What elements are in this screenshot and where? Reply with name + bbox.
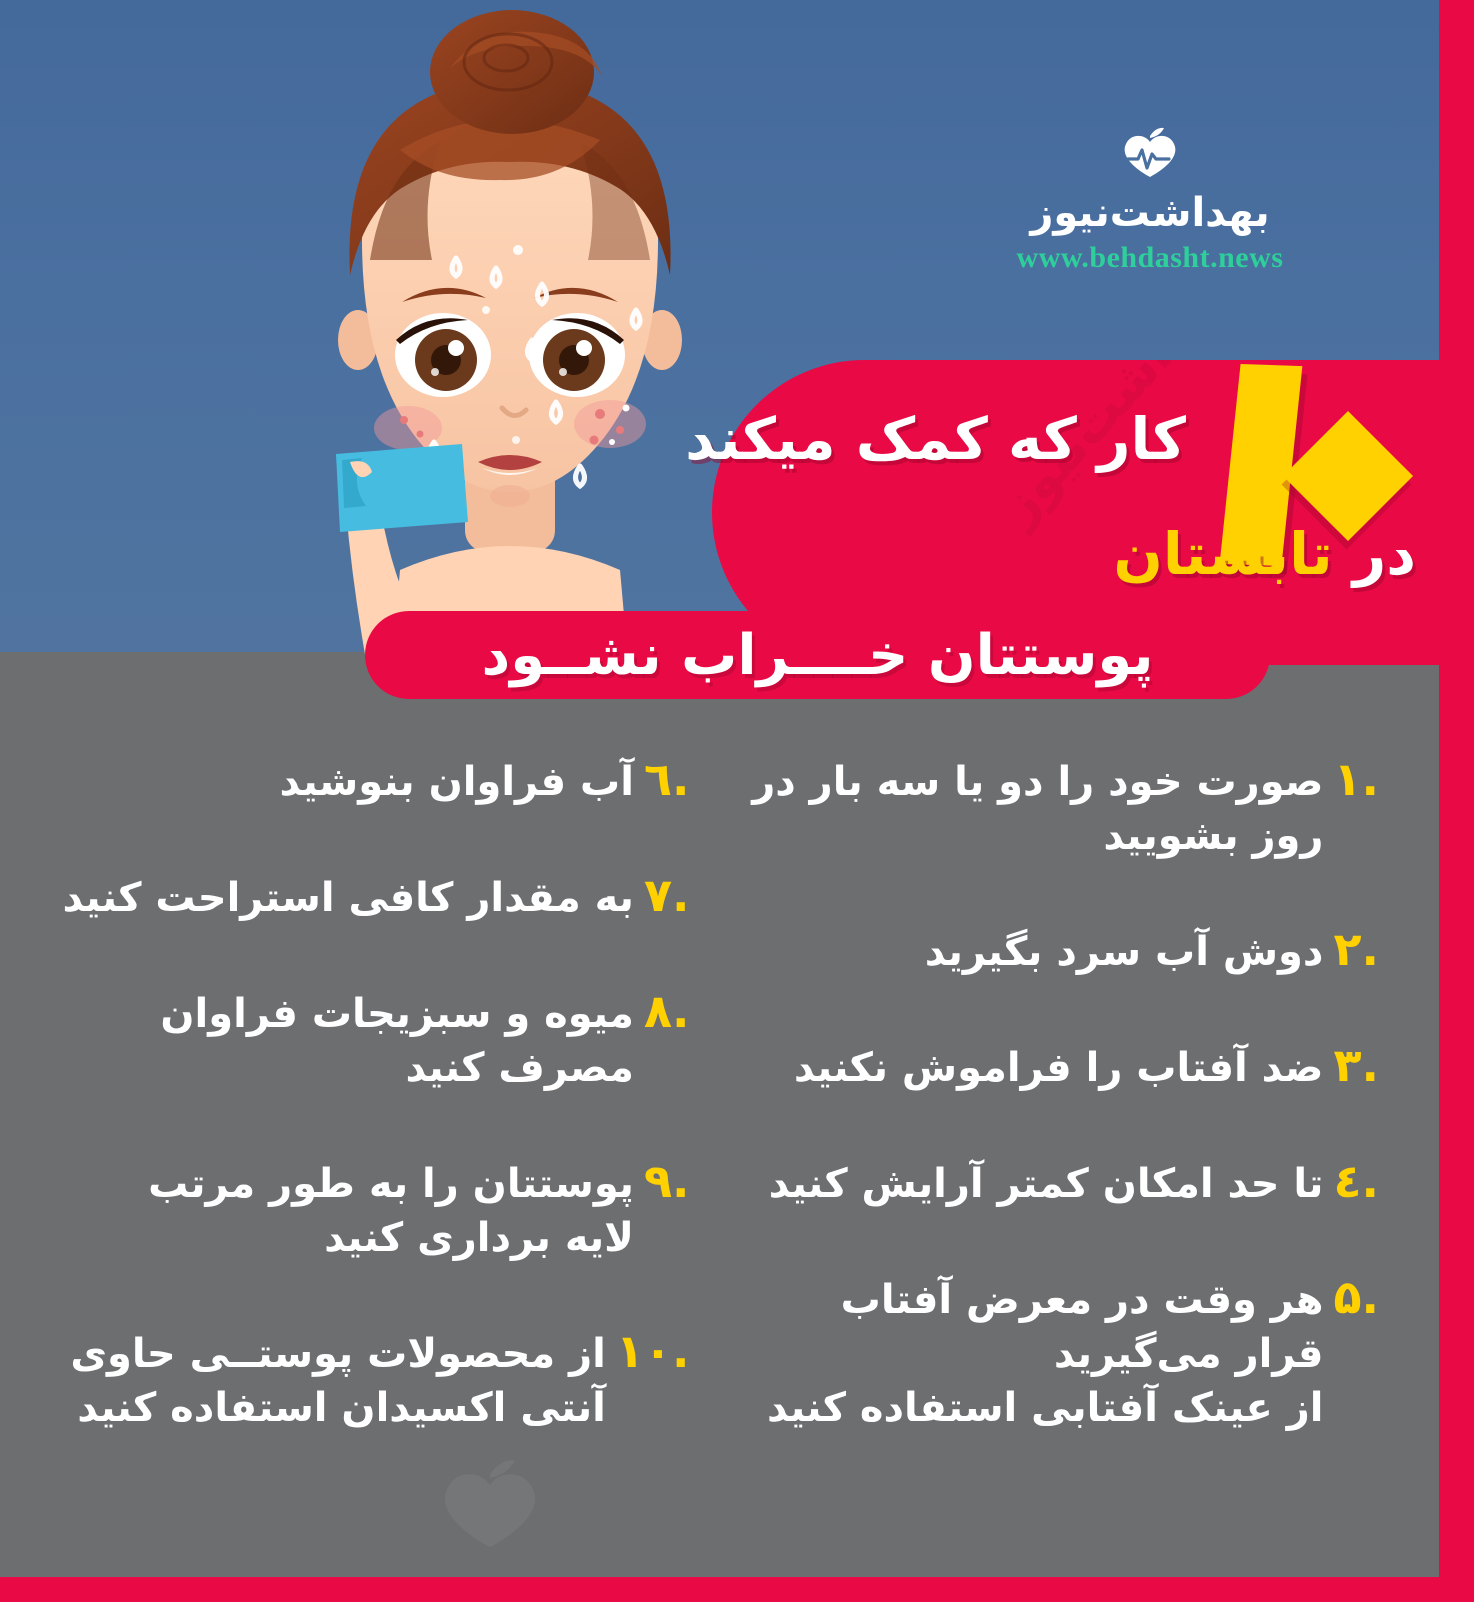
right-edge-strip (1439, 0, 1474, 1602)
tip-number: ۱. (1333, 755, 1379, 803)
tip-line-2: آنتی اکسیدان استفاده کنید (60, 1381, 606, 1435)
tip-number: ۸. (644, 987, 690, 1035)
heart-apple-heartbeat-icon (1118, 125, 1182, 187)
tip-text: میوه و سبزیجات فراوان مصرف کنید (60, 987, 634, 1095)
girl-blotting-face-illustration (280, 10, 740, 660)
tip-text: از محصولات پوستــی حاوی آنتی اکسیدان است… (60, 1327, 606, 1435)
tip-text: ضد آفتاب را فراموش نکنید (750, 1041, 1324, 1095)
tip-item: ۱. صورت خود را دو یا سه بار در روز بشویی… (750, 755, 1380, 863)
tip-line-1: میوه و سبزیجات فراوان مصرف کنید (160, 991, 634, 1091)
tip-line-1: ضد آفتاب را فراموش نکنید (794, 1045, 1324, 1091)
tip-line-1: هر وقت در معرض آفتاب قرار می‌گیرید (841, 1277, 1324, 1377)
tip-item: ٤. تا حد امکان کمتر آرایش کنید (750, 1157, 1380, 1211)
tip-item: ٦. آب فراوان بنوشید (60, 755, 690, 809)
title-line-1: کار که کمک میکند (776, 405, 1416, 473)
bottom-logo-watermark (370, 1455, 610, 1565)
tip-line-1: دوش آب سرد بگیرید (925, 929, 1324, 975)
tips-column-right: ۱. صورت خود را دو یا سه بار در روز بشویی… (720, 735, 1440, 1465)
tip-line-2: از عینک آفتابی استفاده کنید (750, 1381, 1324, 1435)
tip-number: ٤. (1333, 1157, 1379, 1205)
bottom-edge-strip (0, 1577, 1474, 1602)
tip-item: ۸. میوه و سبزیجات فراوان مصرف کنید (60, 987, 690, 1095)
tip-text: آب فراوان بنوشید (60, 755, 634, 809)
tip-item: ۹. پوستتان را به طور مرتب لایه برداری کن… (60, 1157, 690, 1265)
title-line-2-prefix: در (1353, 520, 1416, 588)
tip-line-1: آب فراوان بنوشید (279, 759, 633, 805)
tips-column-left: ٦. آب فراوان بنوشید ۷. به مقدار کافی است… (0, 735, 720, 1465)
tip-item: ۳. ضد آفتاب را فراموش نکنید (750, 1041, 1380, 1095)
tip-line-1: تا حد امکان کمتر آرایش کنید (769, 1161, 1324, 1207)
tip-number: ۱۰. (616, 1327, 690, 1375)
tip-number: ۷. (644, 871, 690, 919)
tip-number: ۲. (1333, 925, 1379, 973)
tip-text: به مقدار کافی استراحت کنید (60, 871, 634, 925)
tip-item: ۵. هر وقت در معرض آفتاب قرار می‌گیرید از… (750, 1273, 1380, 1435)
tip-number: ۳. (1333, 1041, 1379, 1089)
tip-number: ۵. (1333, 1273, 1379, 1321)
brand-name: بهداشت‌نیوز (985, 193, 1315, 233)
tip-text: هر وقت در معرض آفتاب قرار می‌گیرید از عی… (750, 1273, 1324, 1435)
title-line-2: در تابستان (1113, 520, 1416, 588)
title-line-3: پوستتان خــــراب نشــود (365, 611, 1270, 699)
tip-number: ۹. (644, 1157, 690, 1205)
tip-item: ۱۰. از محصولات پوستــی حاوی آنتی اکسیدان… (60, 1327, 690, 1435)
tip-line-1: به مقدار کافی استراحت کنید (62, 875, 633, 921)
tip-line-1: از محصولات پوستــی حاوی (70, 1331, 606, 1377)
tip-line-1: صورت خود را دو یا سه بار در روز بشویید (752, 759, 1323, 859)
brand-logo-block: بهداشت‌نیوز www.behdasht.news (985, 125, 1315, 275)
tip-item: ۷. به مقدار کافی استراحت کنید (60, 871, 690, 925)
tip-text: صورت خود را دو یا سه بار در روز بشویید (750, 755, 1324, 863)
tip-text: تا حد امکان کمتر آرایش کنید (750, 1157, 1324, 1211)
infographic-poster: بهداشت‌نیوز www.behdasht.news بهداشت‌نیو… (0, 0, 1474, 1602)
tip-line-2: لایه برداری کنید (60, 1211, 634, 1265)
tip-line-1: پوستتان را به طور مرتب (148, 1161, 634, 1207)
brand-url: www.behdasht.news (985, 241, 1315, 275)
tips-container: ۱. صورت خود را دو یا سه بار در روز بشویی… (0, 735, 1439, 1465)
tip-text: پوستتان را به طور مرتب لایه برداری کنید (60, 1157, 634, 1265)
tip-text: دوش آب سرد بگیرید (750, 925, 1324, 979)
tip-number: ٦. (644, 755, 690, 803)
tip-item: ۲. دوش آب سرد بگیرید (750, 925, 1380, 979)
title-line-2-highlight: تابستان (1113, 520, 1332, 588)
